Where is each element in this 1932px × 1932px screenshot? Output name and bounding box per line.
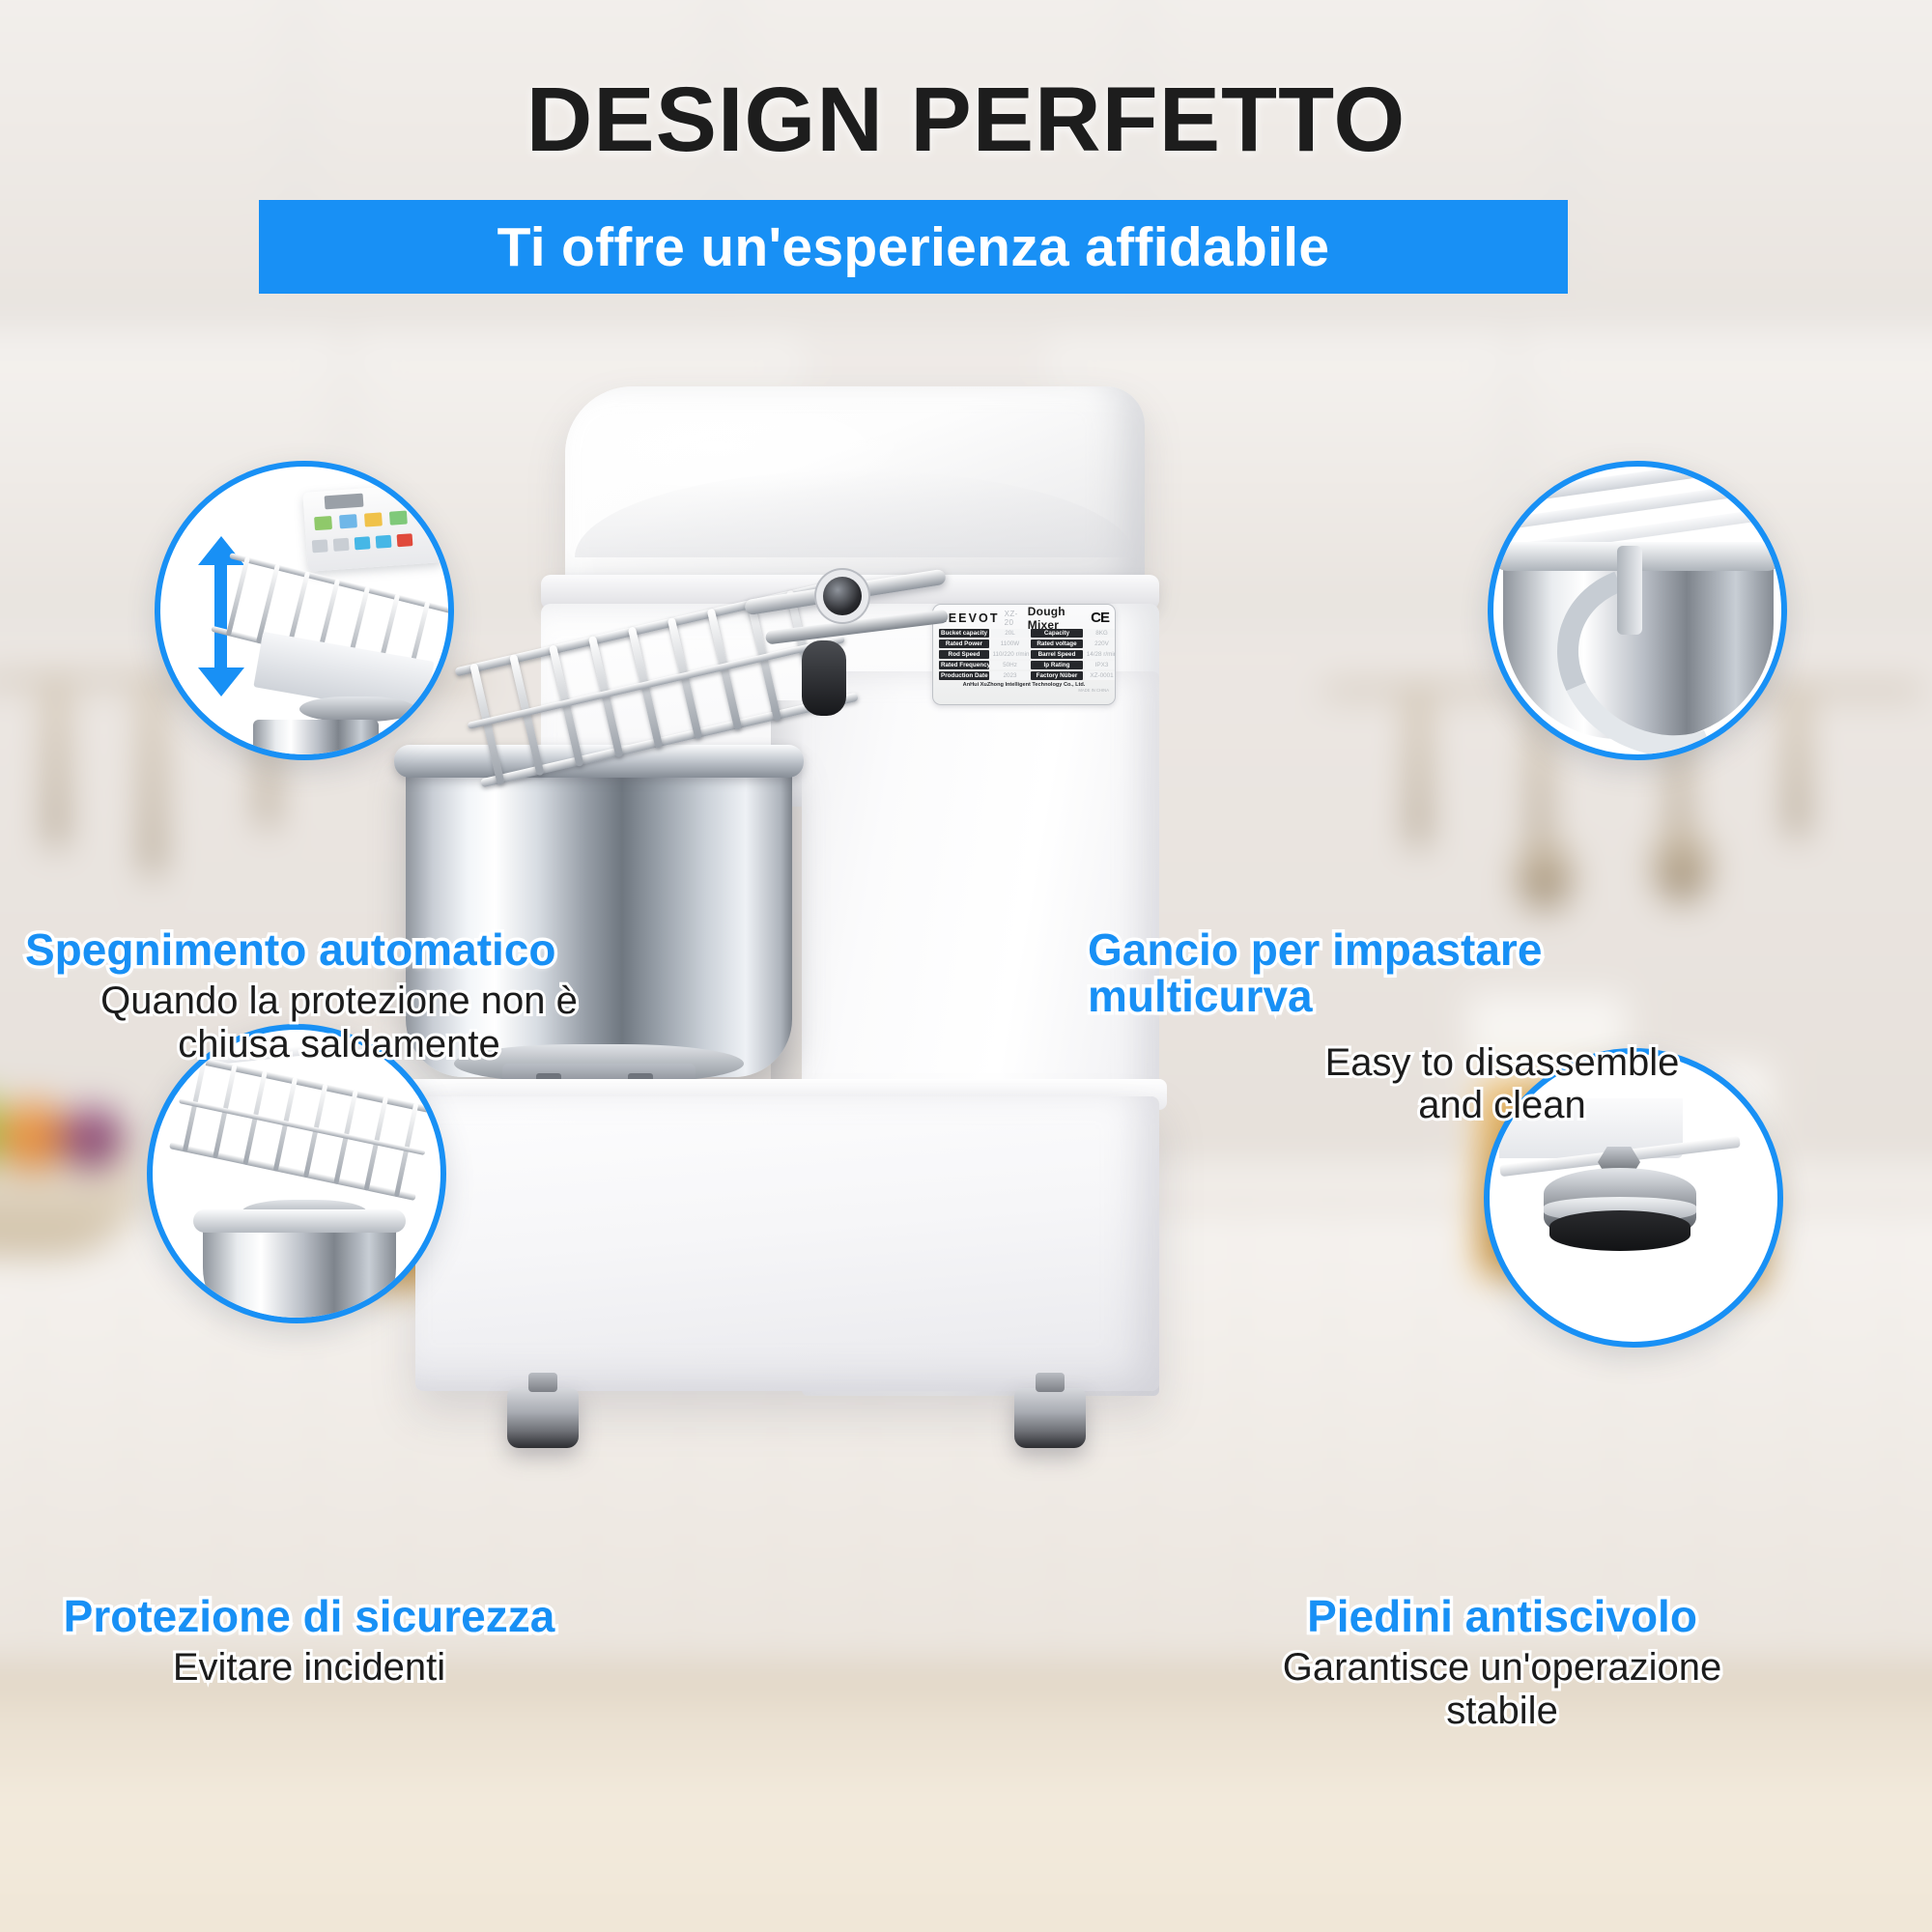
callout-subtitle-line: Quando la protezione non è	[25, 980, 653, 1023]
spec-key: Rated Power	[939, 639, 989, 648]
feature-bubble-dough-hook	[1488, 461, 1787, 760]
callout-subtitle-line: chiusa saldamente	[25, 1023, 653, 1066]
feature-bubble-safety-guard	[147, 1024, 446, 1323]
spec-value: 110/220 r/min	[991, 650, 1030, 659]
callout-safety-guard: Protezione di sicurezza Evitare incident…	[19, 1594, 599, 1690]
callout-title: Protezione di sicurezza	[19, 1594, 599, 1640]
spec-value: 20L	[991, 629, 1030, 638]
ce-mark-icon: CE	[1091, 610, 1109, 626]
spec-key: Capacity	[1031, 629, 1083, 638]
bowl-mini	[253, 720, 379, 760]
spec-value: 1100W	[991, 639, 1030, 648]
callout-title: Spegnimento automatico	[25, 927, 653, 974]
callout-auto-shutoff: Spegnimento automatico Quando la protezi…	[25, 927, 653, 1065]
callout-title: Piedini antiscivolo	[1082, 1594, 1922, 1640]
nameplate-model: XZ-20	[1005, 610, 1023, 627]
callout-subtitle-line: and clean	[1082, 1084, 1922, 1127]
spec-key: Rated Frequency	[939, 661, 989, 669]
hub-mini	[299, 696, 415, 722]
adjustable-foot	[1014, 1388, 1086, 1448]
spec-value: 14/28 r/min	[1085, 650, 1117, 659]
callout-subtitle-line: Easy to disassemble	[1082, 1041, 1922, 1085]
spec-key: Bucket capacity	[939, 629, 989, 638]
page-title: DESIGN PERFETTO	[0, 68, 1932, 173]
subtitle-text: Ti offre un'esperienza affidabile	[497, 215, 1330, 279]
utensil	[1789, 692, 1804, 837]
nameplate-origin: MADE IN CHINA	[939, 688, 1109, 693]
callout-subtitle: Quando la protezione non è chiusa saldam…	[25, 980, 653, 1066]
spec-value: XZ-0001	[1085, 671, 1117, 680]
control-panel-mini	[302, 483, 442, 572]
nameplate-product-type: Dough Mixer	[1028, 605, 1086, 632]
callout-subtitle: Evitare incidenti	[19, 1646, 599, 1690]
wire-guard-icon	[168, 1055, 435, 1206]
fruit	[60, 1107, 124, 1169]
callout-subtitle-line: Garantisce un'operazione	[1082, 1646, 1922, 1690]
callout-title-line: Gancio per impastare	[1088, 927, 1922, 974]
callout-dough-hook: Gancio per impastare multicurva Easy to …	[1082, 927, 1922, 1127]
adjustable-foot	[507, 1388, 579, 1448]
spec-value: 8KG	[1085, 629, 1117, 638]
feature-bubble-auto-shutoff	[155, 461, 454, 760]
spec-value: 2023	[991, 671, 1030, 680]
spec-key: Rated voltage	[1031, 639, 1083, 648]
product-image-dough-mixer: LEEVOT XZ-20 Dough Mixer CE Bucket capac…	[386, 382, 1179, 1463]
spec-key: Ip Rating	[1031, 661, 1083, 669]
utensil	[145, 682, 160, 875]
callout-subtitle: Garantisce un'operazione stabile	[1082, 1646, 1922, 1733]
spec-value: IPX3	[1085, 661, 1117, 669]
fruit	[0, 1101, 68, 1169]
utensil	[48, 682, 64, 846]
spec-key: Production Date	[939, 671, 989, 680]
anti-slip-pad	[1549, 1210, 1690, 1251]
utensil	[1410, 692, 1426, 846]
subtitle-banner: Ti offre un'esperienza affidabile	[259, 200, 1568, 294]
mixer-base	[415, 1096, 1159, 1391]
callout-subtitle-line: stabile	[1082, 1690, 1922, 1733]
spec-value: 220V	[1085, 639, 1117, 648]
callout-subtitle: Easy to disassemble and clean	[1082, 1041, 1922, 1128]
marketing-image: DESIGN PERFETTO Ti offre un'esperienza a…	[0, 0, 1932, 1932]
nameplate-brand: LEEVOT	[939, 611, 1000, 625]
utensil-spoon	[1654, 829, 1710, 902]
spec-key: Factory Nüber	[1031, 671, 1083, 680]
nameplate-spec-table: Bucket capacity 20L Capacity 8KG Rated P…	[939, 629, 1109, 680]
guard-knob	[802, 640, 846, 716]
spec-key: Barrel Speed	[1031, 650, 1083, 659]
nameplate-manufacturer: AnHui XuZhong Intelligent Technology Co.…	[939, 682, 1109, 688]
spec-key: Rod Speed	[939, 650, 989, 659]
callout-anti-slip-feet: Piedini antiscivolo Garantisce un'operaz…	[1082, 1594, 1922, 1732]
hook-shaft-mini	[1617, 546, 1642, 635]
callout-title: Gancio per impastare multicurva	[1082, 927, 1922, 1020]
utensil-spoon	[1517, 840, 1573, 910]
callout-title-line: multicurva	[1088, 974, 1922, 1020]
spec-value: 50Hz	[991, 661, 1030, 669]
control-dial	[823, 577, 862, 615]
bowl-rim-mini	[193, 1209, 406, 1233]
bowl-mini	[203, 1219, 396, 1323]
nameplate: LEEVOT XZ-20 Dough Mixer CE Bucket capac…	[932, 604, 1116, 705]
